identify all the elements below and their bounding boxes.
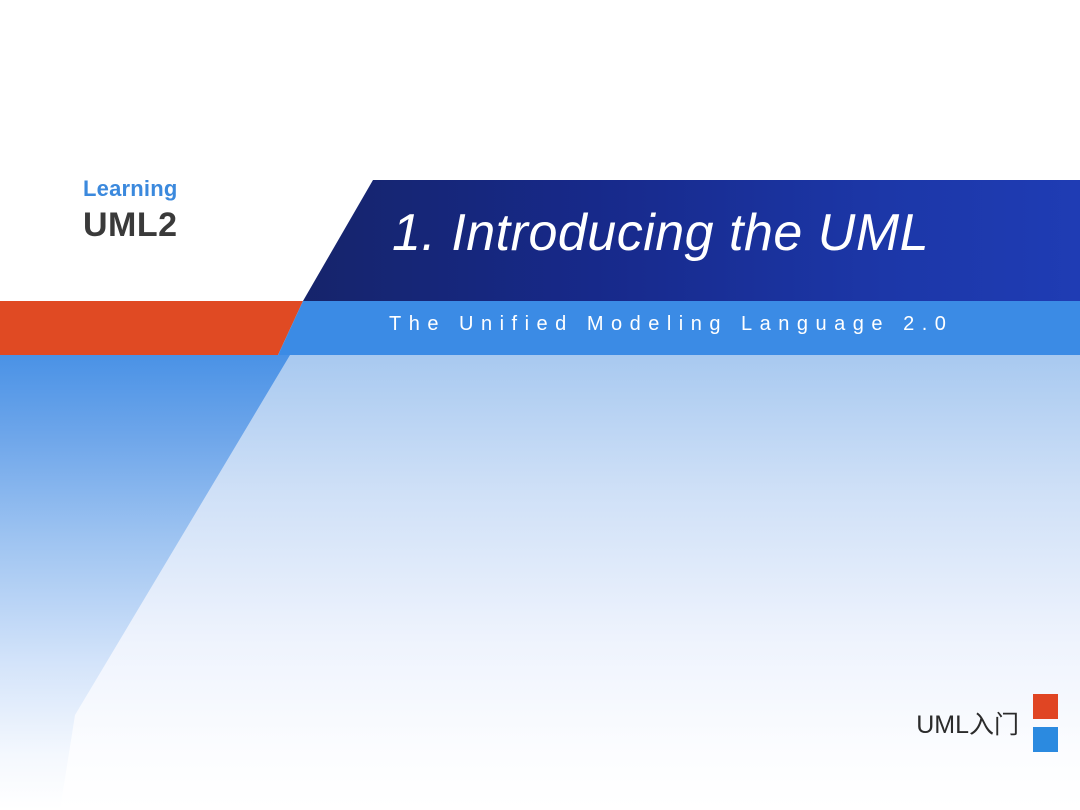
brand-block: Learning UML2 — [83, 178, 178, 242]
blue-square-icon — [1033, 727, 1058, 752]
footer-logo: UML入门 — [916, 694, 1058, 752]
brand-learning-label: Learning — [83, 178, 178, 200]
orange-square-icon — [1033, 694, 1058, 719]
footer-logo-label: UML入门 — [916, 705, 1019, 741]
slide-subtitle: The Unified Modeling Language 2.0 — [389, 313, 953, 336]
presentation-slide: Learning UML2 1. Introducing the UML The… — [0, 0, 1080, 810]
accent-bar-orange — [0, 301, 330, 355]
brand-uml2-label: UML2 — [83, 208, 178, 242]
slide-title: 1. Introducing the UML — [392, 203, 929, 263]
footer-logo-marks — [1033, 694, 1058, 752]
